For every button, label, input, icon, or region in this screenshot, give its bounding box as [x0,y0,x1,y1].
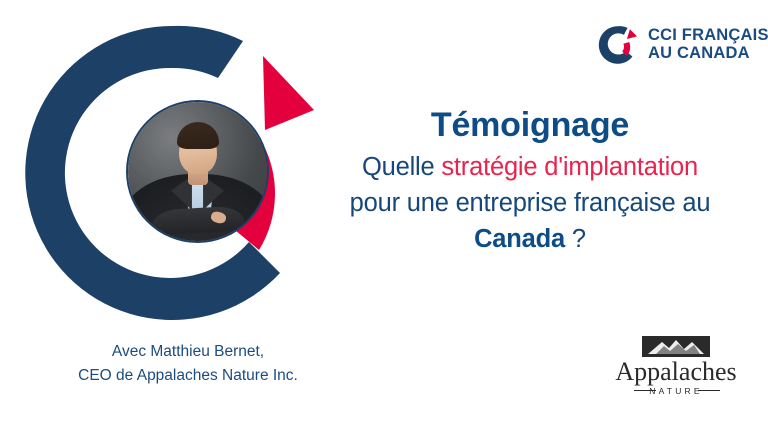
headline-question-mark: ? [565,225,586,253]
cci-logo-line1: CCI FRANÇAISE [648,27,768,45]
speaker-role-line: CEO de Appalaches Nature Inc. [38,364,338,388]
headline-line-3: pour une entreprise française au [300,185,760,221]
speaker-portrait-avatar [128,102,267,241]
cci-logo-line2: AU CANADA [648,45,768,63]
page-title: Témoignage [300,106,760,145]
speaker-name-line: Avec Matthieu Bernet, [38,340,338,364]
cci-c-mark-icon [596,23,640,67]
cci-logo-wordmark: CCI FRANÇAISE AU CANADA [648,27,768,63]
appalaches-tagline-text: NATURE [649,386,703,396]
appalaches-nature-logo: Appalaches NATURE [600,336,752,398]
headline-country: Canada [474,225,565,253]
headline-line-2: Quelle stratégie d'implantation [300,149,760,185]
headline-line2-before: Quelle [362,153,441,181]
speaker-caption: Avec Matthieu Bernet, CEO de Appalaches … [38,340,338,388]
headline-block: Témoignage Quelle stratégie d'implantati… [300,106,760,257]
appalaches-wordmark-text: Appalaches [615,357,736,386]
cci-francaise-au-canada-logo: CCI FRANÇAISE AU CANADA [596,18,756,72]
headline-line2-highlight: stratégie d'implantation [441,153,698,181]
headline-line-4: Canada ? [300,221,760,257]
